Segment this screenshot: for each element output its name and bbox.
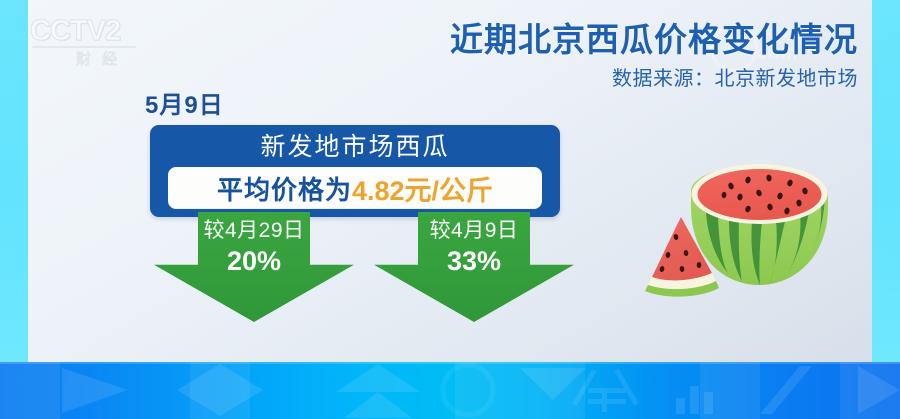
headline-block: 近期北京西瓜价格变化情况 数据来源：北京新发地市场 (450, 20, 858, 92)
bottom-decorative-band (0, 362, 900, 419)
cctv-channel-sub-label: 财经 (30, 50, 160, 70)
band-top-divider (0, 362, 900, 364)
arrow-change-value: 20% (154, 245, 354, 277)
down-arrow-vs-apr9: 较4月9日 33% (374, 212, 574, 322)
watermelon-illustration (628, 155, 858, 305)
cctv-2-finance-logo: CCTV2 财经 (30, 14, 160, 76)
watermelon-icon (628, 155, 858, 305)
price-card: 新发地市场西瓜 平均价格为 4.82元/公斤 (150, 125, 560, 217)
cctv-wordmark: CCTV (30, 15, 105, 47)
price-prefix-label: 平均价格为 (217, 170, 352, 207)
down-arrow-vs-apr29: 较4月29日 20% (154, 212, 354, 322)
price-value: 4.82元/公斤 (352, 169, 493, 208)
page-title: 近期北京西瓜价格变化情况 (450, 20, 858, 60)
cctv-channel-number: 2 (105, 15, 120, 47)
left-cyan-rail (0, 0, 28, 362)
band-pattern (0, 362, 900, 419)
cctv-logo-text: CCTV2 (30, 14, 160, 48)
price-pill: 平均价格为 4.82元/公斤 (168, 167, 542, 209)
arrow-change-value: 33% (374, 245, 574, 277)
date-label: 5月9日 (145, 85, 224, 120)
data-source-note: 数据来源：北京新发地市场 (450, 66, 858, 92)
arrow-comparison-label: 较4月9日 (374, 216, 574, 246)
price-card-title: 新发地市场西瓜 (150, 125, 560, 165)
infographic-canvas: CCTV2 财经 央视网 .com 近期北京西瓜价格变化情况 数据来源：北京新发… (0, 0, 900, 419)
right-cyan-rail (872, 0, 900, 362)
arrow-comparison-label: 较4月29日 (154, 216, 354, 246)
